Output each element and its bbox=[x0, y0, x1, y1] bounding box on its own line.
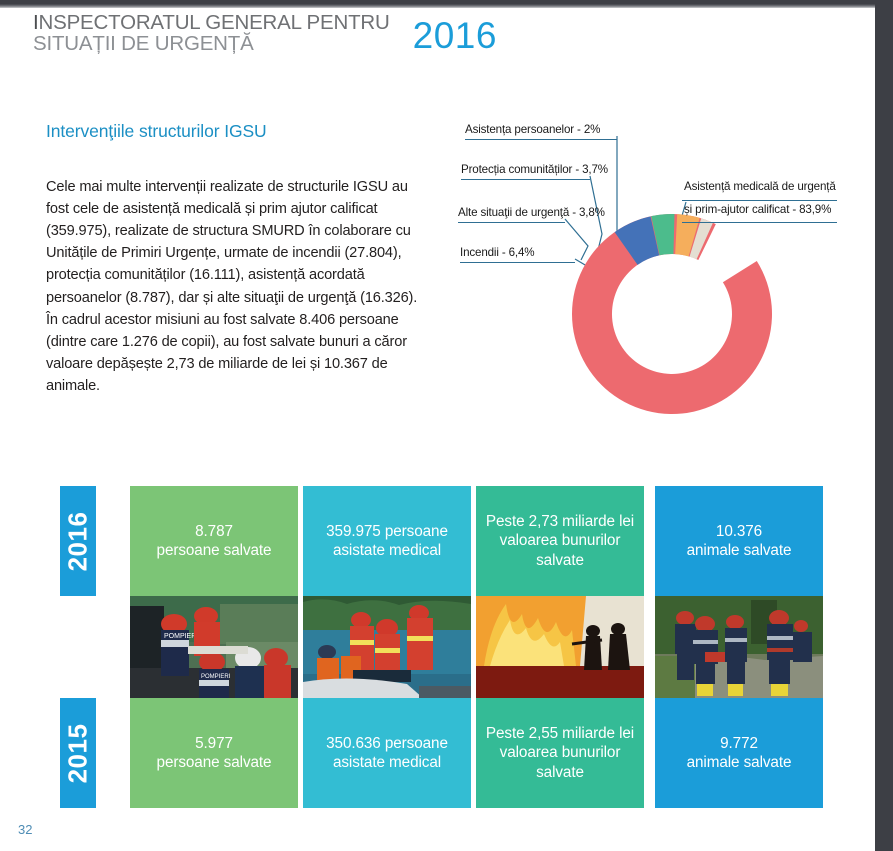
chart-label-underline-4 bbox=[460, 262, 575, 263]
stat-value: Peste 2,55 miliarde lei bbox=[486, 724, 634, 743]
year-badge-2016-label: 2016 bbox=[63, 511, 94, 571]
organization-name: INSPECTORATUL GENERAL PENTRU SITUAȚII DE… bbox=[28, 12, 390, 55]
chart-label-incendii: Incendii - 6,4% bbox=[460, 246, 534, 259]
stat-card-2015-animale-salvate: 9.772 animale salvate bbox=[655, 698, 823, 808]
stat-card-2015-persoane-salvate: 5.977 persoane salvate bbox=[130, 698, 298, 808]
stat-column-valoarea-bunurilor: Peste 2,73 miliarde lei valoarea bunuril… bbox=[476, 486, 644, 808]
stat-value: 350.636 persoane bbox=[326, 734, 448, 753]
body-paragraph-1: Cele mai multe intervenții realizate de … bbox=[46, 176, 431, 309]
year-badge-2015: 2015 bbox=[60, 698, 96, 808]
fire-blaze-photo bbox=[476, 596, 644, 698]
donut-chart: Asistența persoanelor - 2% Protecția com… bbox=[450, 114, 875, 444]
infographic-grid: 2016 2015 8.787 persoane salvate bbox=[60, 486, 843, 808]
stat-column-asistate-medical: 359.975 persoane asistate medical bbox=[303, 486, 471, 808]
stat-value: 9.772 bbox=[720, 734, 758, 753]
stat-caption: animale salvate bbox=[687, 753, 792, 772]
chart-label-asistenta-persoanelor: Asistența persoanelor - 2% bbox=[465, 123, 600, 136]
stat-caption: persoane salvate bbox=[157, 753, 272, 772]
stat-caption: animale salvate bbox=[687, 541, 792, 560]
page-number: 32 bbox=[18, 822, 32, 837]
chart-label-alte-situatii: Alte situaţii de urgenţă - 3,8% bbox=[458, 206, 605, 219]
page-header: INSPECTORATUL GENERAL PENTRU SITUAȚII DE… bbox=[28, 12, 458, 64]
chart-label-underline-2 bbox=[461, 179, 590, 180]
stat-caption-2: salvate bbox=[536, 551, 584, 570]
header-year: 2016 bbox=[413, 17, 497, 54]
stat-value: 8.787 bbox=[195, 522, 233, 541]
chart-label-underline-5b bbox=[682, 222, 837, 223]
stat-caption: valoarea bunurilor bbox=[500, 531, 621, 550]
year-badge-2016: 2016 bbox=[60, 486, 96, 596]
stat-column-animale-salvate: 10.376 animale salvate bbox=[655, 486, 823, 808]
chart-label-protectia-comunitatilor: Protecția comunităților - 3,7% bbox=[461, 163, 608, 176]
document-page: INSPECTORATUL GENERAL PENTRU SITUAȚII DE… bbox=[0, 4, 875, 851]
svg-text:POMPIERI: POMPIERI bbox=[201, 674, 231, 680]
firefighters-at-truck-photo: POMPIERI POMPIERI bbox=[130, 596, 298, 698]
stat-value: 10.376 bbox=[716, 522, 762, 541]
stat-caption: persoane salvate bbox=[157, 541, 272, 560]
stat-card-2015-valoarea-bunurilor: Peste 2,55 miliarde lei valoarea bunuril… bbox=[476, 698, 644, 808]
organization-line-1: INSPECTORATUL GENERAL PENTRU bbox=[33, 12, 390, 33]
stat-card-2016-valoarea-bunurilor: Peste 2,73 miliarde lei valoarea bunuril… bbox=[476, 486, 644, 596]
chart-label-underline-5a bbox=[682, 200, 837, 201]
chart-label-underline-1 bbox=[465, 139, 617, 140]
rescuers-at-lake-photo bbox=[303, 596, 471, 698]
page-top-shadow bbox=[0, 4, 875, 8]
stat-card-2015-asistate-medical: 350.636 persoane asistate medical bbox=[303, 698, 471, 808]
body-paragraph-2: În cadrul acestor misiuni au fost salvat… bbox=[46, 309, 431, 397]
stat-caption: asistate medical bbox=[333, 541, 441, 560]
stat-caption: valoarea bunurilor bbox=[500, 743, 621, 762]
firefighter-squad-photo bbox=[655, 596, 823, 698]
stat-card-2016-animale-salvate: 10.376 animale salvate bbox=[655, 486, 823, 596]
organization-line-2: SITUAȚII DE URGENȚĂ bbox=[33, 33, 390, 54]
stat-value: 359.975 persoane bbox=[326, 522, 448, 541]
chart-label-asistenta-medicala-line1: Asistență medicală de urgență bbox=[684, 179, 836, 194]
page-title: Intervenţiile structurilor IGSU bbox=[46, 121, 267, 142]
stat-caption: asistate medical bbox=[333, 753, 441, 772]
year-badge-2015-label: 2015 bbox=[63, 723, 94, 783]
document-viewer: INSPECTORATUL GENERAL PENTRU SITUAȚII DE… bbox=[0, 0, 893, 851]
stat-card-2016-asistate-medical: 359.975 persoane asistate medical bbox=[303, 486, 471, 596]
stat-card-2016-persoane-salvate: 8.787 persoane salvate bbox=[130, 486, 298, 596]
chart-label-underline-3 bbox=[458, 222, 565, 223]
stat-value: 5.977 bbox=[195, 734, 233, 753]
body-text: Cele mai multe intervenții realizate de … bbox=[46, 176, 431, 397]
svg-text:POMPIERI: POMPIERI bbox=[164, 633, 198, 640]
chart-label-asistenta-medicala-line2: și prim-ajutor calificat - 83,9% bbox=[684, 202, 831, 217]
stat-value: Peste 2,73 miliarde lei bbox=[486, 512, 634, 531]
stat-caption-2: salvate bbox=[536, 763, 584, 782]
stat-column-persoane-salvate: 8.787 persoane salvate POMPIERI bbox=[130, 486, 298, 808]
